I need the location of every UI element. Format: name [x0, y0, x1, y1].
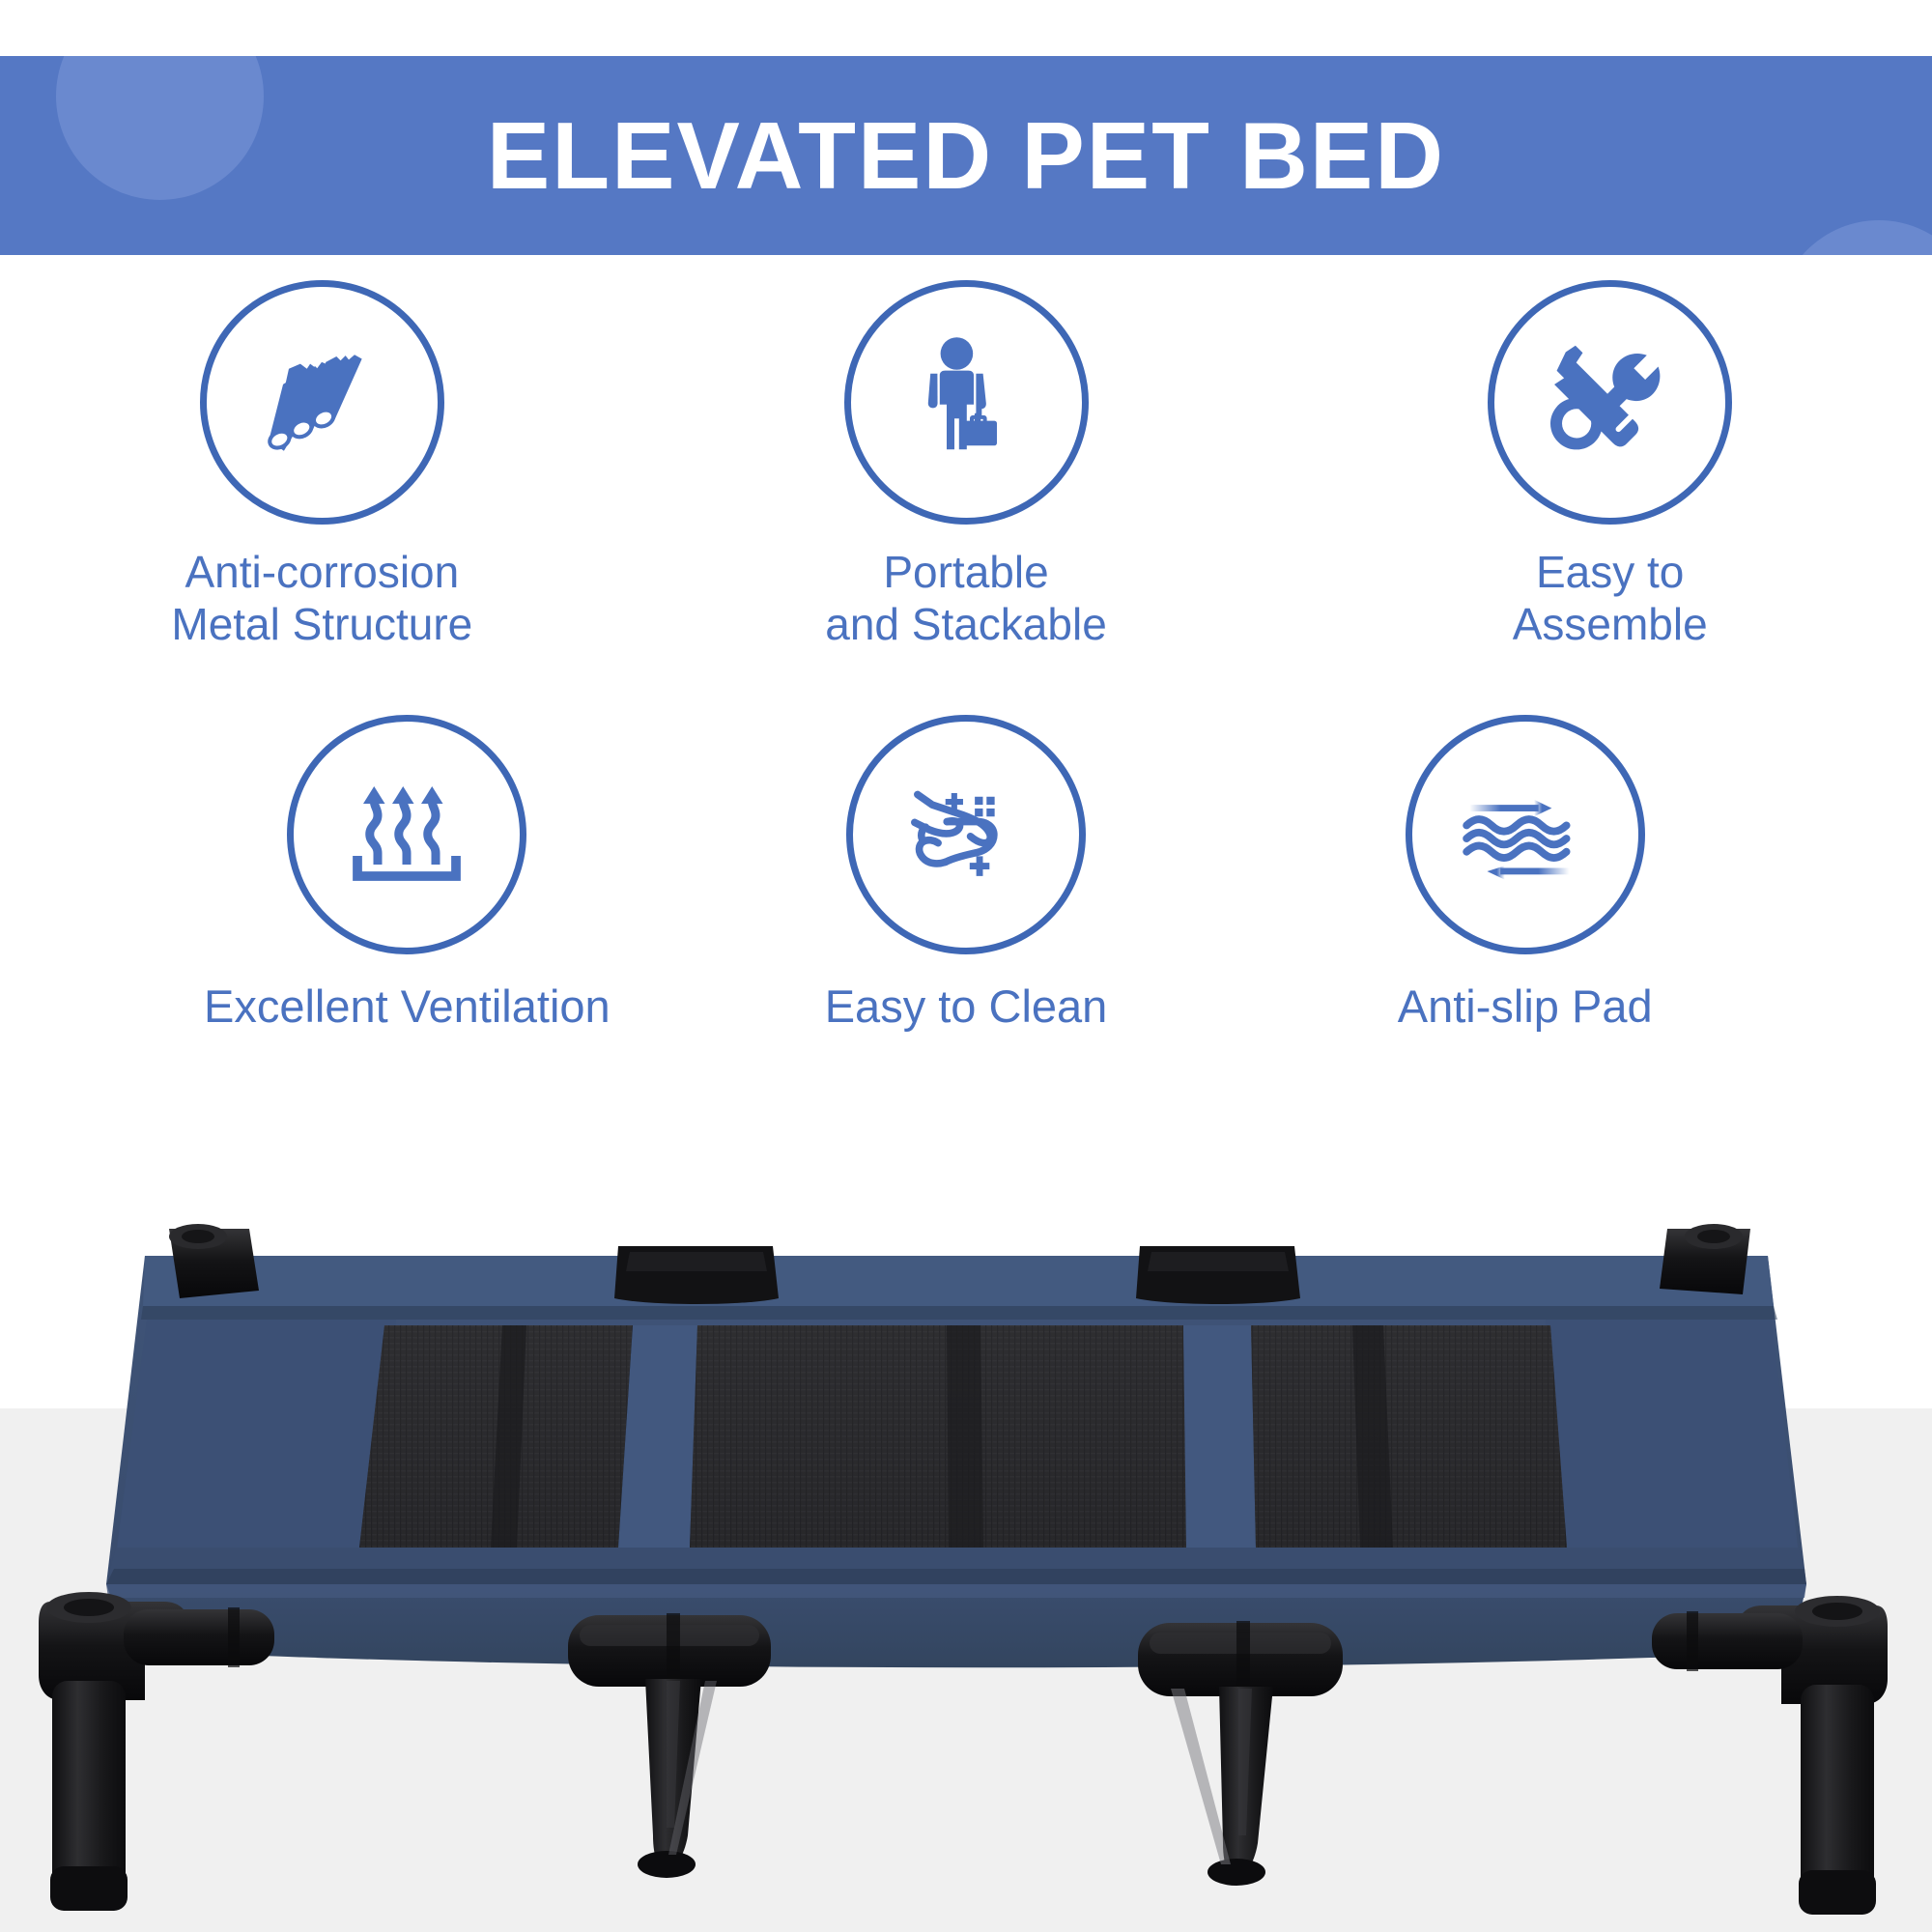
header-banner: ELEVATED PET BED [0, 56, 1932, 255]
feature-anti-corrosion: Anti-corrosion Metal Structure [0, 280, 644, 686]
mesh-panel [359, 1325, 633, 1548]
washing-hands-sparkle-icon [893, 759, 1039, 911]
airflow-arrows-icon [334, 760, 479, 910]
feature-label: Easy to Clean [825, 980, 1108, 1033]
feature-grid: Anti-corrosion Metal Structure [0, 280, 1932, 1198]
feature-icon-circle [1488, 280, 1732, 525]
frame-corner-joint [169, 1224, 259, 1298]
carry-strap [614, 1246, 779, 1304]
bed-deck [106, 1256, 1806, 1584]
feature-row-top: Anti-corrosion Metal Structure [0, 280, 1932, 686]
feature-icon-circle [844, 280, 1089, 525]
frame-rail [1652, 1611, 1803, 1671]
feature-label: Excellent Ventilation [204, 980, 611, 1033]
feature-easy-clean: Easy to Clean [687, 715, 1246, 1121]
elevated-pet-bed-photo [0, 1198, 1932, 1932]
person-carrying-bag-icon [889, 323, 1043, 482]
frame-rail [124, 1607, 274, 1667]
screwdriver-wrench-icon [1529, 319, 1691, 486]
feature-icon-circle [287, 715, 526, 954]
bed-front-skirt [106, 1584, 1806, 1667]
frame-support-rod [668, 1681, 1231, 1864]
feature-anti-slip-pad: Anti-slip Pad [1245, 715, 1804, 1121]
feature-label: Anti-corrosion Metal Structure [171, 546, 472, 651]
feature-excellent-ventilation: Excellent Ventilation [128, 715, 687, 1121]
metal-tubes-icon [240, 318, 404, 487]
feature-label: Anti-slip Pad [1398, 980, 1653, 1033]
infographic-page: ELEVATED PET BED [0, 0, 1932, 1932]
mesh-panel [1251, 1325, 1567, 1548]
bed-leg [1207, 1687, 1273, 1886]
product-photo-area [0, 1198, 1932, 1932]
carry-strap [1136, 1246, 1300, 1304]
feature-icon-circle [1406, 715, 1645, 954]
feature-label: Easy to Assemble [1513, 546, 1708, 651]
wavy-lines-arrows-icon [1452, 759, 1599, 911]
frame-corner-joint [1660, 1224, 1750, 1294]
feature-icon-circle [846, 715, 1086, 954]
feature-icon-circle [200, 280, 444, 525]
feature-label: Portable and Stackable [825, 546, 1107, 651]
feature-row-bottom: Excellent Ventilation [0, 715, 1932, 1121]
feature-easy-assemble: Easy to Assemble [1288, 280, 1932, 686]
mesh-panel [690, 1325, 1186, 1548]
page-title: ELEVATED PET BED [0, 56, 1932, 255]
frame-center-joint [568, 1613, 771, 1689]
feature-portable-stackable: Portable and Stackable [644, 280, 1289, 686]
